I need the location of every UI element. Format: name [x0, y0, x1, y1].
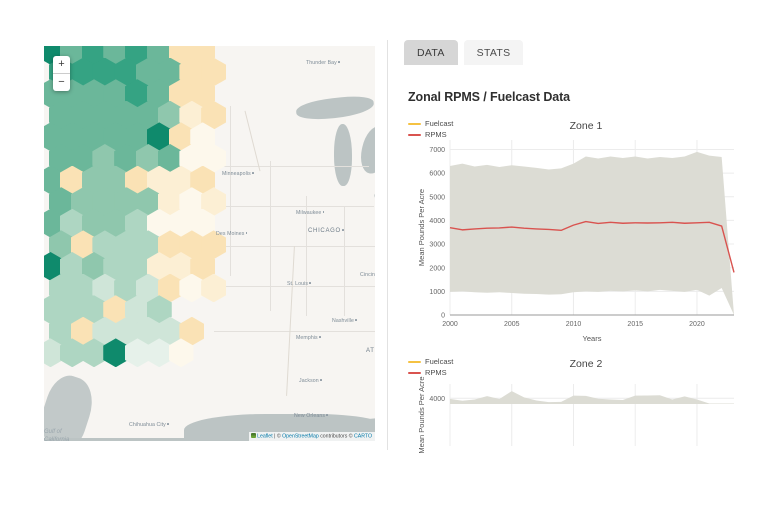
leaflet-logo-icon	[251, 433, 256, 438]
city-dot-icon	[309, 282, 311, 284]
attrib-contributors: contributors	[319, 434, 349, 440]
x-tick-label: 2010	[566, 321, 582, 328]
map-city-label: Nashville	[332, 318, 357, 324]
y-tick-label: 0	[441, 313, 445, 320]
city-dot-icon	[355, 319, 357, 321]
map-city-label: Milwaukee	[296, 210, 324, 216]
city-dot-icon	[246, 232, 248, 234]
state-boundary	[230, 106, 231, 276]
leaflet-link[interactable]: Leaflet	[257, 434, 273, 440]
map-city-label: Des Moines	[216, 231, 247, 237]
y-tick-label: 5000	[429, 194, 445, 201]
y-axis-label: Mean Pounds Per Acre	[417, 189, 426, 266]
plot-canvas-zone-1[interactable]: 20002005201020152020Years010002000300040…	[404, 118, 754, 343]
city-dot-icon	[167, 423, 169, 425]
map-attribution: Leaflet | © OpenStreetMap contributors ©…	[249, 432, 375, 442]
panel-divider	[387, 40, 388, 450]
rpms-color-swatch	[408, 134, 421, 136]
x-tick-label: 2005	[504, 321, 520, 328]
chart-zone-1[interactable]: Fuelcast RPMS Zone 1 2000200520102015202…	[404, 118, 768, 350]
tab-stats[interactable]: STATS	[464, 40, 524, 65]
y-tick-label: 7000	[429, 147, 445, 154]
map-sea-label: Gulf of California	[44, 429, 88, 441]
map-city-label: St. Louis	[287, 281, 311, 287]
city-dot-icon	[320, 379, 322, 381]
x-tick-label: 2020	[689, 321, 705, 328]
x-tick-label: 2000	[442, 321, 458, 328]
tab-bar[interactable]: DATASTATS	[404, 40, 768, 65]
city-dot-icon	[326, 414, 328, 416]
data-panel: DATASTATS Zonal RPMS / Fuelcast Data Fue…	[400, 40, 768, 512]
openstreetmap-link[interactable]: OpenStreetMap	[282, 434, 319, 440]
city-dot-icon	[342, 229, 344, 231]
y-tick-label: 6000	[429, 171, 445, 178]
map-city-label: CHICAGO	[308, 228, 344, 234]
tab-data[interactable]: DATA	[404, 40, 458, 65]
city-dot-icon	[319, 336, 321, 338]
map-city-label: Memphis	[296, 335, 321, 341]
map-zoom-control[interactable]: + −	[53, 56, 70, 91]
page-title: Zonal RPMS / Fuelcast Data	[408, 90, 768, 104]
app-root: Thunder BayMinneapolisMilwaukeeCHICAGODe…	[0, 0, 768, 512]
map-city-label: Jackson	[299, 378, 322, 384]
y-tick-label: 2000	[429, 265, 445, 272]
rpms-color-swatch	[408, 372, 421, 374]
zoom-in-button[interactable]: +	[53, 56, 70, 74]
uncertainty-band	[450, 391, 734, 404]
plot-canvas-zone-2[interactable]: 4000Mean Pounds Per Acre	[404, 356, 754, 456]
y-tick-label: 3000	[429, 242, 445, 249]
y-tick-label: 4000	[429, 218, 445, 225]
carto-link[interactable]: CARTO	[354, 434, 372, 440]
map-city-label: New Orleans	[294, 413, 328, 419]
map-city-label: Chihuahua City	[129, 422, 169, 428]
city-dot-icon	[323, 211, 325, 213]
x-axis-label: Years	[583, 334, 602, 343]
map-city-label: Minneapolis	[222, 171, 254, 177]
y-tick-label: 1000	[429, 289, 445, 296]
city-dot-icon	[252, 172, 254, 174]
map-panel[interactable]: Thunder BayMinneapolisMilwaukeeCHICAGODe…	[44, 46, 375, 441]
chart-zone-2[interactable]: Fuelcast RPMS Zone 2 4000Mean Pounds Per…	[404, 356, 768, 476]
uncertainty-band	[450, 152, 734, 315]
map-city-label: Cincinnati	[360, 272, 375, 278]
state-boundary	[214, 331, 375, 332]
chart-title-zone-1: Zone 1	[404, 120, 768, 132]
map-city-label: ATLANTA	[366, 348, 375, 354]
state-boundary	[270, 161, 271, 311]
x-tick-label: 2015	[627, 321, 643, 328]
map-city-label: Thunder Bay	[306, 60, 340, 66]
lake-michigan	[334, 124, 352, 186]
state-boundary	[344, 206, 345, 316]
zoom-out-button[interactable]: −	[53, 74, 70, 91]
city-dot-icon	[338, 61, 340, 63]
y-axis-label: Mean Pounds Per Acre	[417, 376, 426, 453]
y-tick-label: 4000	[429, 396, 445, 403]
chart-title-zone-2: Zone 2	[404, 358, 768, 370]
